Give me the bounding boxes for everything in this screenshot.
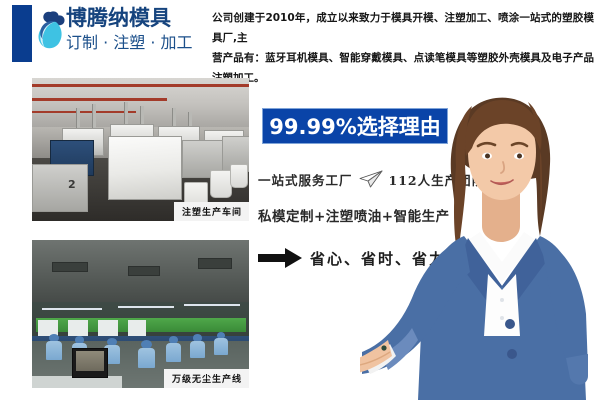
machine-number-label: 2 <box>68 178 76 191</box>
businesswoman-presenter <box>360 86 600 400</box>
ceiling-beam <box>32 98 167 101</box>
promo-banner-page: 博腾纳模具 订制 · 注塑 · 加工 公司创建于2010年，成立以来致力于模具开… <box>0 0 600 400</box>
page-header: 博腾纳模具 订制 · 注塑 · 加工 公司创建于2010年，成立以来致力于模具开… <box>0 0 600 62</box>
worker <box>46 334 62 360</box>
ceiling-vent <box>52 262 88 272</box>
right-arrow-icon <box>258 248 302 268</box>
feature-one-stop-service: 一站式服务工厂 <box>258 170 353 189</box>
photo-injection-molding-workshop: 2 注塑生产车间 <box>32 78 249 221</box>
company-description: 公司创建于2010年，成立以来致力于模具开模、注塑加工、喷涂一站式的塑胶模具厂,… <box>212 8 594 88</box>
molding-machine-front <box>108 136 182 200</box>
worker <box>214 332 228 355</box>
worker <box>166 336 181 362</box>
ceiling-beam <box>32 111 136 113</box>
water-droplet-leaf-icon <box>36 9 66 53</box>
storage-bucket <box>230 164 248 188</box>
photo-caption: 注塑生产车间 <box>174 202 249 221</box>
company-description-line1: 公司创建于2010年，成立以来致力于模具开模、注塑加工、喷涂一站式的塑胶模具厂,… <box>212 8 594 48</box>
photo-dust-free-production-line: 万级无尘生产线 <box>32 240 249 388</box>
brand-tagline: 订制 · 注塑 · 加工 <box>66 32 206 53</box>
line-station-panel <box>98 320 118 336</box>
storage-bucket <box>210 170 232 198</box>
monitor <box>72 348 108 378</box>
line-station-panel <box>68 320 88 336</box>
ceiling-light <box>184 304 240 306</box>
company-description-line2: 营产品有：蓝牙耳机模具、智能穿戴模具、点读笔模具等塑胶外壳模具及电子产品注塑加工… <box>212 48 594 88</box>
worker <box>190 334 205 358</box>
header-accent-bar <box>12 5 32 62</box>
brand-name: 博腾纳模具 <box>66 6 206 31</box>
ceiling-beam <box>32 84 249 87</box>
ceiling-vent <box>128 266 160 276</box>
ceiling-light <box>42 308 102 310</box>
ceiling-light <box>118 306 174 308</box>
ceiling-vent <box>198 258 232 269</box>
worker <box>138 340 155 368</box>
line-station-panel <box>128 320 146 336</box>
brand-logo-text: 博腾纳模具 订制 · 注塑 · 加工 <box>66 6 206 53</box>
photo-caption: 万级无尘生产线 <box>164 369 249 388</box>
machine-cabinet <box>32 164 88 212</box>
